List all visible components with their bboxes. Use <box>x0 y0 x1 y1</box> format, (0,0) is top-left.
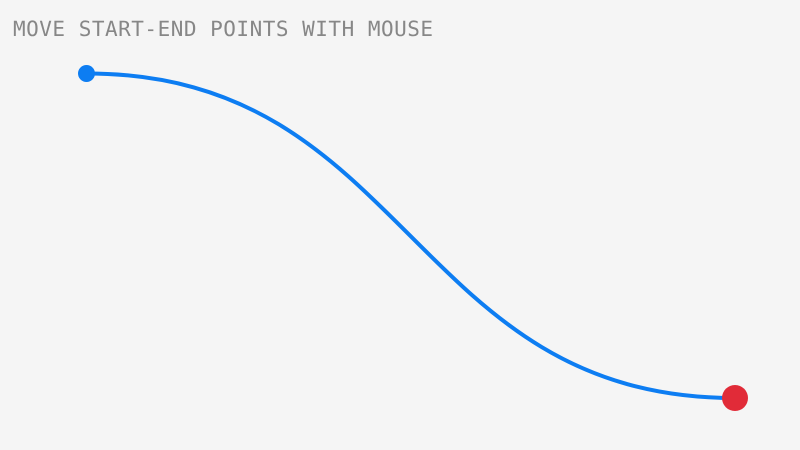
start-point-handle[interactable] <box>78 65 95 82</box>
app-root: MOVE START-END POINTS WITH MOUSE <box>0 0 800 450</box>
page-title: MOVE START-END POINTS WITH MOUSE <box>13 17 434 41</box>
curve-svg[interactable] <box>0 0 800 450</box>
curve-canvas[interactable] <box>0 0 800 450</box>
end-point-handle[interactable] <box>722 385 748 411</box>
